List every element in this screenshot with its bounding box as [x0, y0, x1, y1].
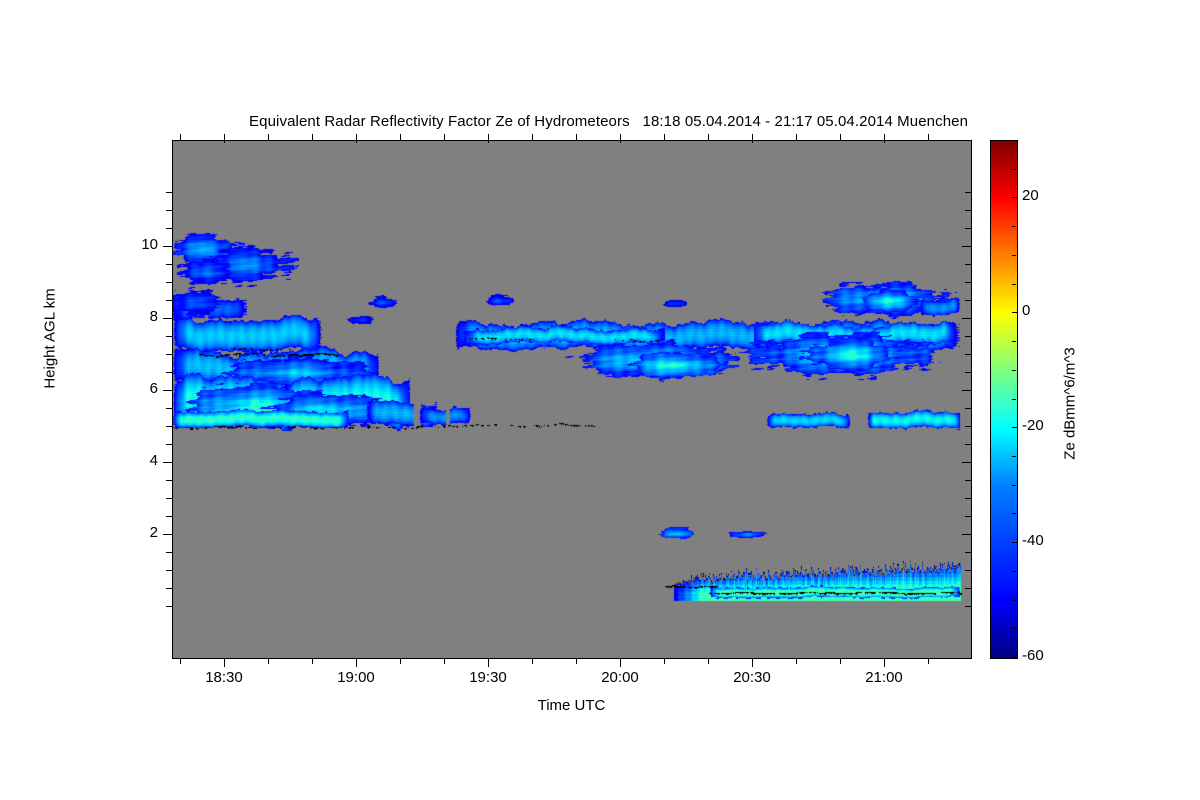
figure-title-timerange: 18:18 05.04.2014 - 21:17 05.04.2014 Muen…: [643, 113, 969, 130]
x-tick-major: [752, 658, 753, 667]
y-tick-right-major: [962, 390, 971, 391]
y-tick-right-minor: [965, 588, 971, 589]
x-axis-title: Time UTC: [0, 697, 1143, 714]
x-tick-top-major: [224, 134, 225, 143]
colorbar-tick-minor: [1012, 571, 1016, 572]
y-tick-minor: [166, 228, 172, 229]
colorbar-tick-minor: [1012, 399, 1016, 400]
x-tick-major: [620, 658, 621, 667]
reflectivity-heatmap-canvas: [173, 141, 971, 658]
y-tick-minor: [166, 480, 172, 481]
x-tick-top-minor: [444, 134, 445, 140]
y-axis-title: Height AGL km: [42, 229, 59, 449]
y-tick-right-major: [962, 534, 971, 535]
y-tick-right-minor: [965, 354, 971, 355]
y-tick-right-minor: [965, 372, 971, 373]
y-tick-right-minor: [965, 228, 971, 229]
title-gap: [630, 113, 643, 130]
x-tick-top-minor: [664, 134, 665, 140]
y-tick-major: [163, 390, 172, 391]
colorbar-tick-minor: [1012, 456, 1016, 457]
x-tick-top-minor: [268, 134, 269, 140]
y-tick-label: 6: [118, 380, 158, 397]
x-tick-major: [488, 658, 489, 667]
y-tick-right-minor: [965, 408, 971, 409]
x-tick-minor: [664, 658, 665, 664]
y-tick-right-minor: [965, 336, 971, 337]
x-tick-minor: [840, 658, 841, 664]
x-tick-major: [224, 658, 225, 667]
y-tick-right-minor: [965, 552, 971, 553]
y-tick-right-minor: [965, 606, 971, 607]
y-tick-right-minor: [965, 570, 971, 571]
colorbar-tick-minor: [1012, 600, 1016, 601]
colorbar-tick-minor: [1012, 284, 1016, 285]
x-tick-label: 20:00: [575, 669, 665, 686]
y-tick-right-minor: [965, 498, 971, 499]
y-tick-minor: [166, 336, 172, 337]
x-tick-minor: [268, 658, 269, 664]
x-tick-label: 19:30: [443, 669, 533, 686]
y-tick-minor: [166, 552, 172, 553]
colorbar-tick-minor: [1012, 255, 1016, 256]
x-tick-top-major: [356, 134, 357, 143]
x-tick-top-minor: [532, 134, 533, 140]
heatmap-plot-area: [172, 140, 972, 659]
y-tick-major: [163, 462, 172, 463]
x-tick-minor: [400, 658, 401, 664]
colorbar-tick-minor: [1012, 169, 1016, 170]
x-tick-minor: [928, 658, 929, 664]
colorbar-tick-minor: [1012, 513, 1016, 514]
y-tick-minor: [166, 372, 172, 373]
y-tick-right-minor: [965, 516, 971, 517]
y-tick-label: 8: [118, 308, 158, 325]
x-tick-top-minor: [708, 134, 709, 140]
colorbar-tick-minor: [1012, 485, 1016, 486]
y-tick-major: [163, 318, 172, 319]
colorbar-tick: [1012, 312, 1017, 313]
y-tick-label: 4: [118, 452, 158, 469]
colorbar-tick-label: -20: [1022, 417, 1044, 434]
x-tick-top-minor: [576, 134, 577, 140]
x-tick-minor: [796, 658, 797, 664]
y-tick-right-major: [962, 246, 971, 247]
y-tick-minor: [166, 210, 172, 211]
x-tick-minor: [444, 658, 445, 664]
x-tick-top-minor: [400, 134, 401, 140]
x-tick-top-minor: [180, 134, 181, 140]
colorbar-tick-minor: [1012, 370, 1016, 371]
y-tick-right-minor: [965, 264, 971, 265]
x-tick-label: 19:00: [311, 669, 401, 686]
y-tick-major: [163, 246, 172, 247]
x-tick-label: 20:30: [707, 669, 797, 686]
y-tick-right-major: [962, 462, 971, 463]
y-tick-right-minor: [965, 282, 971, 283]
x-tick-label: 21:00: [839, 669, 929, 686]
x-tick-minor: [532, 658, 533, 664]
y-tick-right-minor: [965, 300, 971, 301]
y-tick-minor: [166, 192, 172, 193]
y-tick-minor: [166, 300, 172, 301]
y-tick-minor: [166, 606, 172, 607]
colorbar-tick: [1012, 427, 1017, 428]
y-tick-label: 10: [118, 236, 158, 253]
colorbar-tick-minor: [1012, 140, 1016, 141]
colorbar-tick-label: 20: [1022, 187, 1039, 204]
x-tick-top-minor: [312, 134, 313, 140]
x-tick-minor: [708, 658, 709, 664]
x-tick-top-major: [620, 134, 621, 143]
colorbar-tick-label: 0: [1022, 302, 1030, 319]
y-tick-right-minor: [965, 426, 971, 427]
y-tick-minor: [166, 570, 172, 571]
x-tick-major: [356, 658, 357, 667]
y-tick-minor: [166, 498, 172, 499]
y-tick-minor: [166, 354, 172, 355]
colorbar-tick: [1012, 542, 1017, 543]
x-tick-top-minor: [928, 134, 929, 140]
colorbar-tick-minor: [1012, 341, 1016, 342]
y-tick-right-minor: [965, 480, 971, 481]
y-tick-label: 2: [118, 524, 158, 541]
y-tick-right-minor: [965, 192, 971, 193]
y-tick-minor: [166, 516, 172, 517]
x-tick-minor: [180, 658, 181, 664]
x-tick-label: 18:30: [179, 669, 269, 686]
colorbar-tick-label: -60: [1022, 647, 1044, 664]
y-tick-right-major: [962, 318, 971, 319]
colorbar-tick-minor: [1012, 628, 1016, 629]
y-tick-minor: [166, 408, 172, 409]
colorbar-tick: [1012, 657, 1017, 658]
radar-reflectivity-figure: Equivalent Radar Reflectivity Factor Ze …: [0, 0, 1200, 800]
y-tick-minor: [166, 588, 172, 589]
y-tick-minor: [166, 282, 172, 283]
y-tick-right-minor: [965, 444, 971, 445]
colorbar-tick-label: -40: [1022, 532, 1044, 549]
y-tick-major: [163, 534, 172, 535]
colorbar-title: Ze dBmm^6/m^3: [1062, 294, 1079, 514]
y-tick-right-minor: [965, 210, 971, 211]
x-tick-minor: [576, 658, 577, 664]
colorbar-tick-minor: [1012, 226, 1016, 227]
x-tick-top-major: [488, 134, 489, 143]
x-tick-top-major: [884, 134, 885, 143]
y-tick-minor: [166, 264, 172, 265]
figure-title-main: Equivalent Radar Reflectivity Factor Ze …: [249, 113, 630, 130]
x-tick-minor: [312, 658, 313, 664]
colorbar-tick: [1012, 197, 1017, 198]
x-tick-top-minor: [840, 134, 841, 140]
y-tick-minor: [166, 444, 172, 445]
x-tick-top-minor: [796, 134, 797, 140]
x-tick-top-major: [752, 134, 753, 143]
x-tick-major: [884, 658, 885, 667]
y-tick-minor: [166, 426, 172, 427]
